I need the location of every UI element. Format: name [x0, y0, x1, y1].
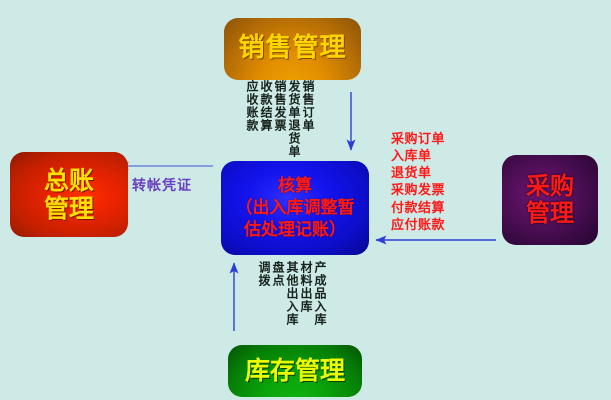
module-sales-label: 销售管理: [224, 34, 361, 63]
purchase-doc-item: 采购订单: [391, 131, 445, 148]
sales-doc-item: 销售订单: [302, 80, 314, 132]
module-sales-management[interactable]: 销售管理: [224, 18, 361, 80]
purchase-doc-item: 采购发票: [391, 182, 445, 199]
module-general-ledger-label-line2: 管理: [44, 195, 94, 223]
inventory-document-list: 产成品入库 材料出库 其他出入库 盘点 调拨: [256, 261, 326, 326]
module-core-label-line1: 核算: [236, 175, 355, 197]
purchase-doc-item: 退货单: [391, 165, 445, 182]
module-purchase-management[interactable]: 采购 管理: [502, 155, 598, 245]
sales-doc-item: 收款结算: [260, 80, 272, 132]
module-inventory-management[interactable]: 库存管理: [228, 345, 362, 397]
purchase-doc-item: 付款结算: [391, 200, 445, 217]
inventory-doc-item: 材料出库: [300, 261, 312, 313]
inventory-doc-item: 调拨: [258, 261, 270, 287]
purchase-doc-item: 应付账款: [391, 217, 445, 234]
module-core-label-line3: 估处理记账）: [236, 219, 355, 241]
sales-document-list: 销售订单 发货单退货单 销售发票 收款结算 应收账款: [244, 80, 314, 158]
purchase-document-list: 采购订单 入库单 退货单 采购发票 付款结算 应付账款: [391, 131, 445, 234]
inventory-doc-item: 盘点: [272, 261, 284, 287]
module-general-ledger[interactable]: 总账 管理: [10, 152, 128, 237]
inventory-doc-item: 产成品入库: [314, 261, 326, 326]
diagram-canvas: 销售管理 总账 管理 核算 （出入库调整暂 估处理记账） 采购 管理 库存管理 …: [0, 0, 611, 400]
purchase-doc-item: 入库单: [391, 148, 445, 165]
module-core-label-line2: （出入库调整暂: [236, 197, 355, 219]
module-core-accounting[interactable]: 核算 （出入库调整暂 估处理记账）: [221, 161, 369, 255]
inventory-doc-item: 其他出入库: [286, 261, 298, 326]
module-general-ledger-label-line1: 总账: [44, 167, 94, 195]
transfer-voucher-label: 转帐凭证: [132, 175, 192, 195]
module-inventory-label: 库存管理: [228, 357, 362, 385]
sales-doc-item: 应收账款: [246, 80, 258, 132]
module-purchase-label-line1: 采购: [526, 173, 574, 200]
sales-doc-item: 发货单退货单: [288, 80, 300, 158]
module-purchase-label-line2: 管理: [526, 200, 574, 227]
sales-doc-item: 销售发票: [274, 80, 286, 132]
